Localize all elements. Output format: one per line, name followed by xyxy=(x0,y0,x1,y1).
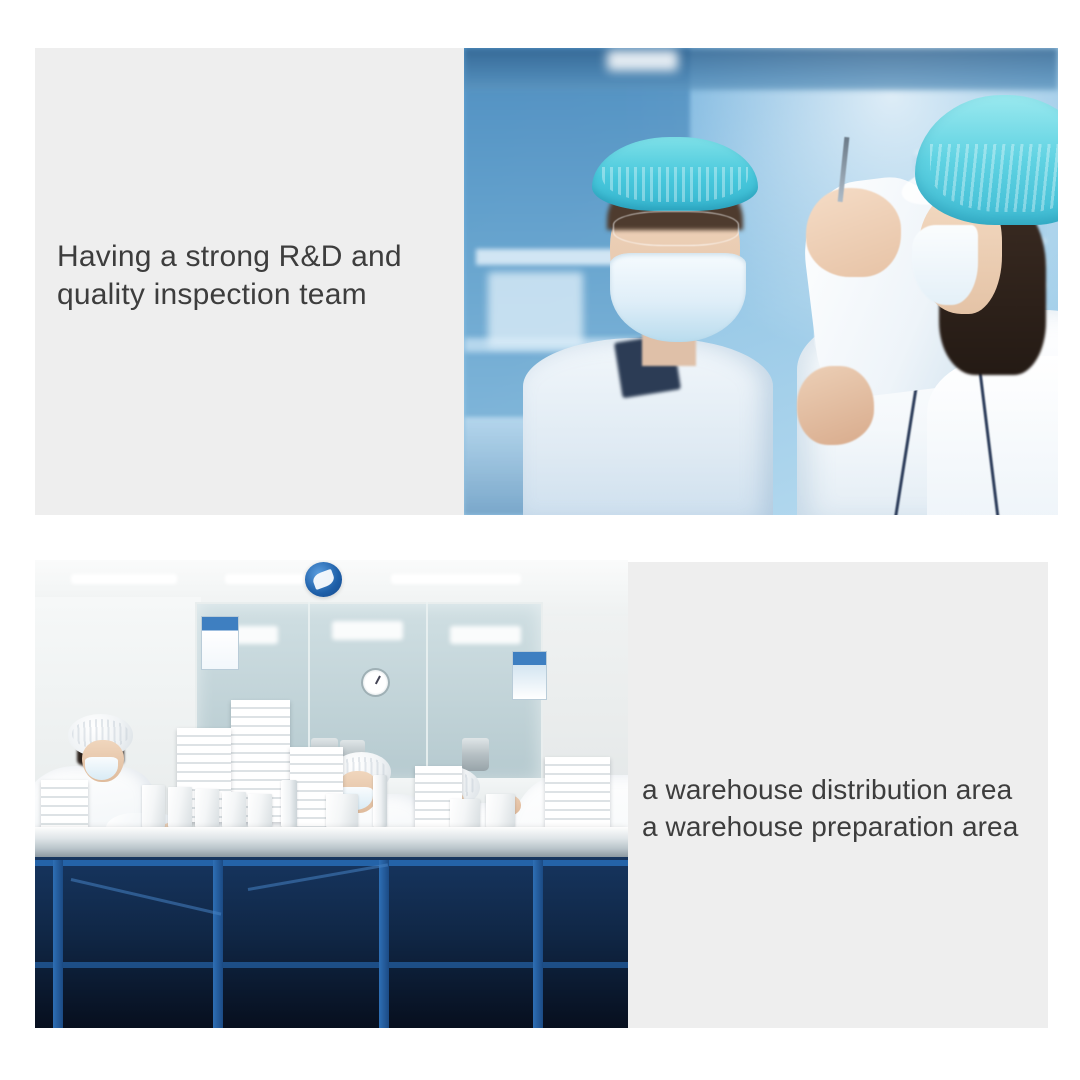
top-caption-panel: Having a strong R&D and quality inspecti… xyxy=(35,48,475,515)
carton-6 xyxy=(326,794,359,827)
technician-center-hand-upper xyxy=(806,188,901,277)
bottom-caption-panel: a warehouse distribution area a warehous… xyxy=(628,562,1048,1028)
stainless-steel-table xyxy=(35,827,628,857)
top-section: Having a strong R&D and quality inspecti… xyxy=(0,0,1080,530)
window-light-2 xyxy=(332,621,403,640)
technician-center-hand-lower xyxy=(797,366,874,445)
top-caption-text: Having a strong R&D and quality inspecti… xyxy=(57,238,457,315)
rd-quality-inspection-photo xyxy=(464,48,1058,515)
window-light-3 xyxy=(450,626,521,645)
bottle-2 xyxy=(373,775,387,826)
table-leg-2 xyxy=(213,860,223,1028)
steel-container-3 xyxy=(462,738,489,771)
technician-right-face-mask xyxy=(912,225,977,304)
window-mullion-2 xyxy=(426,602,428,780)
ceiling-light-1 xyxy=(71,574,178,584)
ceiling-light-3 xyxy=(391,574,521,584)
warehouse-packing-photo xyxy=(35,560,628,1028)
lab-equipment-box xyxy=(488,272,583,347)
table-leg-3 xyxy=(379,860,389,1028)
lab-ceiling xyxy=(464,48,1058,90)
company-logo-sign xyxy=(305,562,342,597)
table-leg-4 xyxy=(533,860,543,1028)
carton-2 xyxy=(168,787,192,827)
carton-8 xyxy=(486,794,516,827)
bottle-1 xyxy=(281,780,296,827)
bottom-caption-text: a warehouse distribution area a warehous… xyxy=(642,772,1048,846)
table-leg-1 xyxy=(53,860,63,1028)
wall-notice-sign-2 xyxy=(201,616,239,669)
lab-ceiling-light xyxy=(607,50,678,71)
lab-scene xyxy=(464,48,1058,515)
wall-clock xyxy=(361,668,390,697)
carton-5 xyxy=(248,794,272,827)
wall-notice-sign xyxy=(512,651,547,700)
carton-7 xyxy=(450,799,480,827)
carton-3 xyxy=(195,789,219,826)
technician-left-goggles xyxy=(613,211,740,246)
carton-1 xyxy=(142,785,166,827)
bottom-section: a warehouse distribution area a warehous… xyxy=(0,530,1080,1080)
carton-4 xyxy=(222,792,246,827)
carton-stack-5 xyxy=(545,757,610,827)
packing-scene xyxy=(35,560,628,1028)
carton-stack-6 xyxy=(41,780,88,827)
